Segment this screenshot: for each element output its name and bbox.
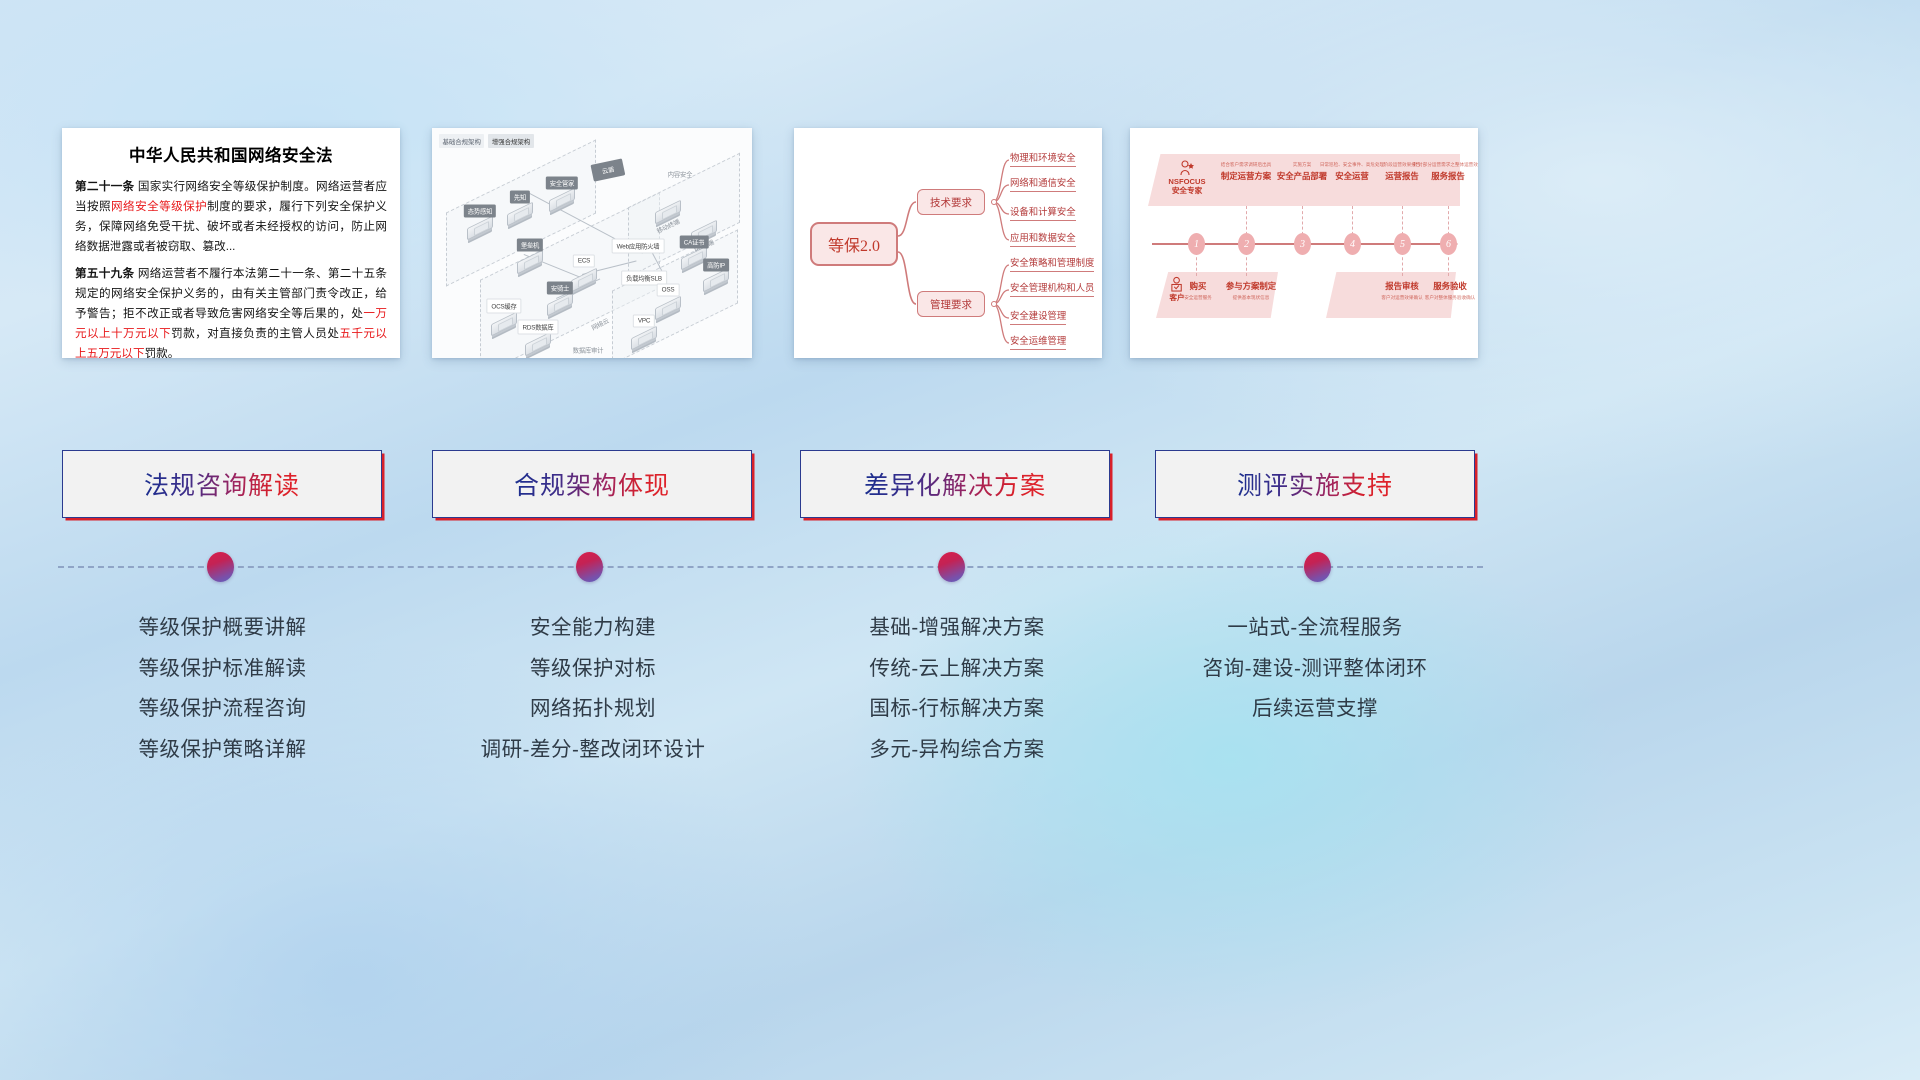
- timeline-dash-7: [1246, 252, 1247, 276]
- article-21-highlight: 网络安全等级保护: [111, 200, 207, 213]
- card-mindmap: 等保2.0 技术要求 管理要求 物理和环境安全 网络和通信安全 设备和计算安全 …: [794, 128, 1102, 358]
- heading-box-differentiated-solution[interactable]: 差异化解决方案: [800, 450, 1110, 518]
- list-item: 多元-异构综合方案: [778, 730, 1136, 771]
- mindmap-branch-management[interactable]: 管理要求: [917, 291, 985, 317]
- law-title: 中华人民共和国网络安全法: [75, 142, 387, 166]
- list-item: 等级保护标准解读: [40, 649, 405, 690]
- slide-canvas: 中华人民共和国网络安全法 第二十一条 国家实行网络安全等级保护制度。网络运营者应…: [0, 0, 1920, 1080]
- article-21-label: 第二十一条: [75, 180, 134, 193]
- timeline-node-3[interactable]: 3: [1294, 233, 1311, 255]
- list-item: 网络拓扑规划: [412, 689, 774, 730]
- node-label-anti-ddos-ip: 高防IP: [703, 259, 729, 272]
- timeline-node-5[interactable]: 5: [1394, 233, 1411, 255]
- list-item: 后续运营支撑: [1140, 689, 1490, 730]
- mindmap-branch-technical[interactable]: 技术要求: [917, 189, 985, 215]
- timeline-node-4[interactable]: 4: [1344, 233, 1361, 255]
- timeline-dash-6: [1196, 252, 1197, 276]
- article-59-text-b: 罚款，对直接负责的主管人员处: [171, 327, 339, 340]
- node-label-bastion-host: 堡垒机: [517, 239, 543, 252]
- heading-label-1: 法规咨询解读: [144, 466, 300, 502]
- timeline-node-2[interactable]: 2: [1238, 233, 1255, 255]
- feature-list-regulation: 等级保护概要讲解 等级保护标准解读 等级保护流程咨询 等级保护策略详解: [40, 608, 405, 770]
- mindmap-leaf-network-comm: 网络和通信安全: [1010, 175, 1076, 192]
- mindmap-leaf-device-compute: 设备和计算安全: [1010, 204, 1076, 221]
- node-label-ca-certificate: CA证书: [680, 236, 709, 249]
- node-label-ecs: ECS: [573, 255, 595, 268]
- node-label-situational-awareness: 态势感知: [464, 205, 496, 218]
- architecture-canvas: 基础合规架构 增强合规架构 云盾 态势感知: [432, 128, 752, 358]
- rail-dot-3[interactable]: [938, 552, 965, 582]
- timeline-provider-step-5: 针对部分运营需求之整体运营效果 服务报告: [1412, 162, 1478, 182]
- node-label-database-audit: 数据库审计: [569, 344, 608, 357]
- provider-step-5-title: 服务报告: [1412, 170, 1478, 182]
- timeline-provider-role: NSFOCUS 安全专家: [1158, 160, 1216, 196]
- card-architecture-diagram: 基础合规架构 增强合规架构 云盾 态势感知: [432, 128, 752, 358]
- customer-step-4-sub: 客户对整体服务验收确认: [1422, 295, 1478, 301]
- customer-step-2-title: 参与方案制定: [1220, 280, 1282, 292]
- timeline-customer-step-1: 购买 安全运营服务: [1174, 280, 1222, 303]
- heading-label-2: 合规架构体现: [514, 466, 670, 502]
- rail-dot-2[interactable]: [576, 552, 603, 582]
- tab-basic-architecture[interactable]: 基础合规架构: [439, 134, 484, 148]
- list-item: 等级保护流程咨询: [40, 689, 405, 730]
- rail-dot-1[interactable]: [207, 552, 234, 582]
- list-item: 等级保护对标: [412, 649, 774, 690]
- feature-list-solution: 基础-增强解决方案 传统-云上解决方案 国标-行标解决方案 多元-异构综合方案: [778, 608, 1136, 770]
- heading-label-3: 差异化解决方案: [864, 466, 1046, 502]
- feature-list-architecture: 安全能力构建 等级保护对标 网络拓扑规划 调研-差分-整改闭环设计: [412, 608, 774, 770]
- heading-label-4: 测评实施支持: [1237, 466, 1393, 502]
- mindmap-collapse-dot-technical[interactable]: [991, 199, 997, 205]
- card-law-text: 中华人民共和国网络安全法 第二十一条 国家实行网络安全等级保护制度。网络运营者应…: [62, 128, 400, 358]
- customer-step-4-title: 服务验收: [1422, 280, 1478, 292]
- heading-box-compliance-architecture[interactable]: 合规架构体现: [432, 450, 752, 518]
- node-label-ocs-cache: OCS缓存: [486, 299, 521, 314]
- node-label-vpc: VPC: [633, 315, 655, 328]
- node-label-content-security: 内容安全: [664, 168, 696, 181]
- customer-step-1-title: 购买: [1174, 280, 1222, 292]
- law-body: 中华人民共和国网络安全法 第二十一条 国家实行网络安全等级保护制度。网络运营者应…: [62, 128, 400, 358]
- article-59-text-c: 罚款。: [145, 347, 180, 359]
- mindmap-leaf-policy-system: 安全策略和管理制度: [1010, 255, 1094, 272]
- list-item: 国标-行标解决方案: [778, 689, 1136, 730]
- tab-enhanced-architecture[interactable]: 增强合规架构: [488, 134, 533, 148]
- timeline-dash-9: [1448, 252, 1449, 276]
- provider-step-5-sub: 针对部分运营需求之整体运营效果: [1412, 162, 1478, 168]
- node-label-security-steward: 安全管家: [546, 177, 578, 190]
- mindmap-leaf-construction-mgmt: 安全建设管理: [1010, 308, 1066, 325]
- customer-step-1-sub: 安全运营服务: [1174, 295, 1222, 301]
- mindmap-leaf-physical-env: 物理和环境安全: [1010, 150, 1076, 167]
- mindmap-leaf-org-personnel: 安全管理机构和人员: [1010, 280, 1094, 297]
- provider-person-icon: [1179, 160, 1195, 176]
- law-article-21: 第二十一条 国家实行网络安全等级保护制度。网络运营者应当按照网络安全等级保护制度…: [75, 177, 387, 257]
- timeline-rail: [58, 566, 1483, 568]
- mindmap-leaf-app-data: 应用和数据安全: [1010, 230, 1076, 247]
- timeline-canvas: NSFOCUS 安全专家 结合客户需求调研后出具 制定运营方案 实施方案 安全产…: [1130, 128, 1478, 358]
- list-item: 等级保护概要讲解: [40, 608, 405, 649]
- customer-step-2-sub: 提供基本现状信息: [1220, 295, 1282, 301]
- list-item: 等级保护策略详解: [40, 730, 405, 771]
- article-59-label: 第五十九条: [75, 267, 134, 280]
- list-item: 调研-差分-整改闭环设计: [412, 730, 774, 771]
- timeline-customer-step-2: 参与方案制定 提供基本现状信息: [1220, 280, 1282, 303]
- card-service-timeline: NSFOCUS 安全专家 结合客户需求调研后出具 制定运营方案 实施方案 安全产…: [1130, 128, 1478, 358]
- rail-dot-4[interactable]: [1304, 552, 1331, 582]
- timeline-node-6[interactable]: 6: [1440, 233, 1457, 255]
- list-item: 一站式-全流程服务: [1140, 608, 1490, 649]
- mindmap-canvas: 等保2.0 技术要求 管理要求 物理和环境安全 网络和通信安全 设备和计算安全 …: [794, 128, 1102, 358]
- node-label-rds-database: RDS数据库: [518, 320, 559, 335]
- list-item: 传统-云上解决方案: [778, 649, 1136, 690]
- feature-list-evaluation: 一站式-全流程服务 咨询-建设-测评整体闭环 后续运营支撑: [1140, 608, 1490, 730]
- mindmap-root-node[interactable]: 等保2.0: [810, 222, 898, 266]
- node-label-oss: OSS: [657, 284, 680, 297]
- node-label-anqishi: 安骑士: [547, 282, 573, 295]
- provider-role-label: 安全专家: [1158, 186, 1216, 195]
- timeline-node-1[interactable]: 1: [1188, 233, 1205, 255]
- node-label-xianzhi: 先知: [510, 191, 530, 204]
- list-item: 安全能力构建: [412, 608, 774, 649]
- mindmap-collapse-dot-management[interactable]: [991, 301, 997, 307]
- mindmap-leaf-ops-mgmt: 安全运维管理: [1010, 333, 1066, 350]
- heading-box-regulation-consulting[interactable]: 法规咨询解读: [62, 450, 382, 518]
- heading-box-evaluation-support[interactable]: 测评实施支持: [1155, 450, 1475, 518]
- timeline-customer-step-4: 服务验收 客户对整体服务验收确认: [1422, 280, 1478, 303]
- list-item: 基础-增强解决方案: [778, 608, 1136, 649]
- timeline-dash-8: [1402, 252, 1403, 276]
- architecture-tabs: 基础合规架构 增强合规架构: [439, 134, 534, 148]
- list-item: 咨询-建设-测评整体闭环: [1140, 649, 1490, 690]
- node-label-web-waf: Web应用防火墙: [612, 239, 665, 254]
- law-article-59: 第五十九条 网络运营者不履行本法第二十一条、第二十五条规定的网络安全保护义务的，…: [75, 264, 387, 358]
